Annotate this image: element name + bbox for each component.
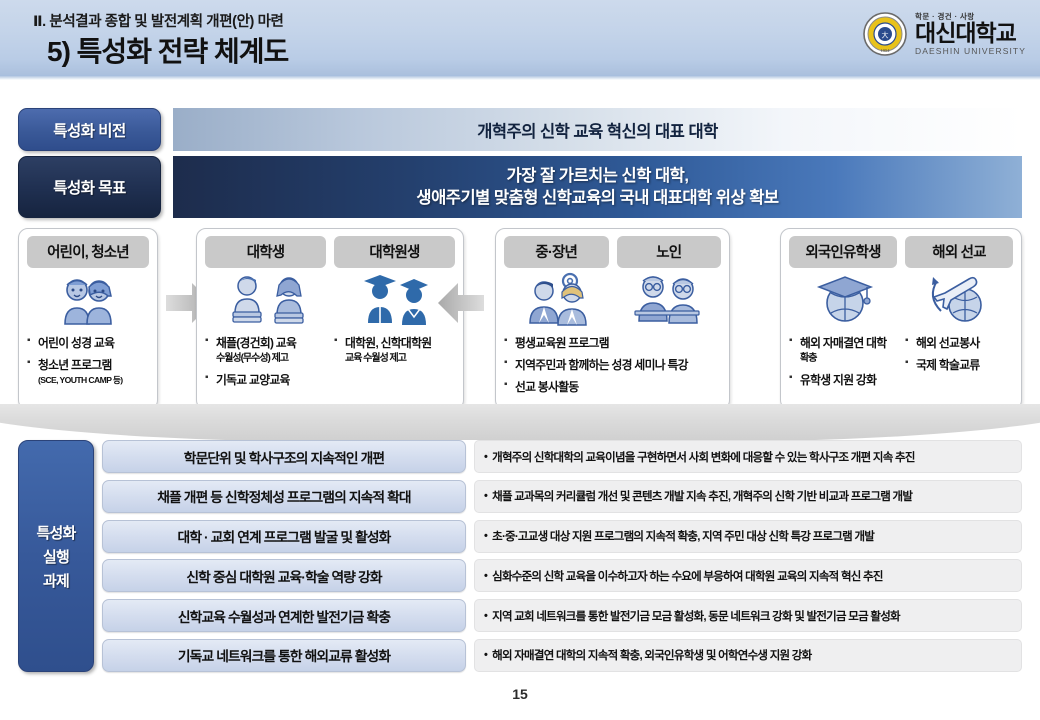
group-bullet-list: 해외 선교봉사 국제 학술교류 xyxy=(905,335,1013,374)
bullet-text: 지역주민과 함께하는 성경 세미나 특강 xyxy=(515,358,688,372)
group-header: 외국인유학생 xyxy=(789,236,897,268)
bullet-text: 유학생 지원 강화 xyxy=(800,373,876,387)
list-item: 해외 선교봉사 xyxy=(905,335,1013,352)
bullet-text: 해외 자매결연 대학 xyxy=(800,336,886,350)
group-icons xyxy=(205,271,455,333)
task-description: • 채플 교과목의 커리큘럼 개선 및 콘텐츠 개발 지속 추진, 개혁주의 신… xyxy=(474,480,1022,513)
list-item: 채플(경건회) 교육수월성(무수성) 제고 xyxy=(205,335,326,367)
group-header-row: 어린이, 청소년 xyxy=(27,236,149,268)
university-logo: 大 1954 학문 · 경건 · 사랑 대신대학교 DAESHIN UNIVER… xyxy=(862,8,1026,60)
list-item: 유학생 지원 강화 xyxy=(789,372,897,389)
task-description-text: 채플 교과목의 커리큘럼 개선 및 콘텐츠 개발 지속 추진, 개혁주의 신학 … xyxy=(492,488,912,504)
group-column: 평생교육원 프로그램 지역주민과 함께하는 성경 세미나 특강 선교 봉사활동 xyxy=(504,335,721,403)
group-icons xyxy=(789,271,1013,333)
task-description: • 지역 교회 네트워크를 통한 발전기금 모금 활성화, 동문 네트워크 강화… xyxy=(474,599,1022,632)
graduate-students-icon xyxy=(356,271,436,334)
bullet-subtext: 교육 수월성 제고 xyxy=(345,352,455,367)
group-card-children: 어린이, 청소년 xyxy=(18,228,158,410)
group-bullet-list: 해외 자매결연 대학확충 유학생 지원 강화 xyxy=(789,335,897,389)
list-item: 평생교육원 프로그램 xyxy=(504,335,721,352)
goal-badge: 특성화 목표 xyxy=(18,156,161,218)
list-item: 선교 봉사활동 xyxy=(504,379,721,396)
group-body: 채플(경건회) 교육수월성(무수성) 제고 기독교 교양교육 대학원, 신학대학… xyxy=(205,335,455,403)
group-bullet-list: 채플(경건회) 교육수월성(무수성) 제고 기독교 교양교육 xyxy=(205,335,326,389)
bullet-text: 국제 학술교류 xyxy=(916,358,980,372)
task-description: • 심화수준의 신학 교육을 이수하고자 하는 수요에 부응하여 대학원 교육의… xyxy=(474,559,1022,592)
group-card-international: 외국인유학생 해외 선교 xyxy=(780,228,1022,410)
children-icon xyxy=(56,272,120,333)
svg-text:大: 大 xyxy=(882,31,889,40)
tasks-side-label: 특성화 실행 과제 xyxy=(18,440,94,672)
table-row: 신학 중심 대학원 교육·학술 역량 강화 • 심화수준의 신학 교육을 이수하… xyxy=(102,559,1022,592)
group-bullet-list: 대학원, 신학대학원교육 수월성 제고 xyxy=(334,335,455,367)
bullet-dot-icon: • xyxy=(484,649,487,661)
middle-aged-icon xyxy=(518,271,598,334)
list-item: 어린이 성경 교육 xyxy=(27,335,149,352)
list-item: 해외 자매결연 대학확충 xyxy=(789,335,897,367)
task-description-text: 심화수준의 신학 교육을 이수하고자 하는 수요에 부응하여 대학원 교육의 지… xyxy=(492,568,883,584)
group-column: 해외 선교봉사 국제 학술교류 xyxy=(905,335,1013,403)
elderly-icon xyxy=(627,271,707,334)
tasks-label-line: 과제 xyxy=(43,570,69,591)
bullet-dot-icon: • xyxy=(484,530,487,542)
goal-statement: 가장 잘 가르치는 신학 대학, 생애주기별 맞춤형 신학교육의 국내 대표대학… xyxy=(173,156,1022,218)
list-item: 기독교 교양교육 xyxy=(205,372,326,389)
vision-badge: 특성화 비전 xyxy=(18,108,161,151)
logo-name-en: DAESHIN UNIVERSITY xyxy=(915,47,1026,56)
university-seal-icon: 大 1954 xyxy=(862,11,908,57)
logo-tagline: 학문 · 경건 · 사랑 xyxy=(915,13,975,21)
group-card-students: 대학생 대학원생 xyxy=(196,228,464,410)
target-groups: 어린이, 청소년 xyxy=(18,228,1022,410)
table-row: 기독교 네트워크를 통한 해외교류 활성화 • 해외 자매결연 대학의 지속적 … xyxy=(102,639,1022,672)
group-card-adults: 중·장년 노인 xyxy=(495,228,730,410)
goal-line-2: 생애주기별 맞춤형 신학교육의 국내 대표대학 위상 확보 xyxy=(416,187,778,209)
group-column: 대학원, 신학대학원교육 수월성 제고 xyxy=(334,335,455,403)
task-name: 기독교 네트워크를 통한 해외교류 활성화 xyxy=(102,639,466,672)
group-header: 해외 선교 xyxy=(905,236,1013,268)
task-description: • 개혁주의 신학대학의 교육이념을 구현하면서 사회 변화에 대응할 수 있는… xyxy=(474,440,1022,473)
page-number: 15 xyxy=(0,686,1040,702)
tasks-table: 학문단위 및 학사구조의 지속적인 개편 • 개혁주의 신학대학의 교육이념을 … xyxy=(102,440,1022,672)
group-body: 평생교육원 프로그램 지역주민과 함께하는 성경 세미나 특강 선교 봉사활동 xyxy=(504,335,721,403)
task-description: • 해외 자매결연 대학의 지속적 확충, 외국인유학생 및 어학연수생 지원 … xyxy=(474,639,1022,672)
group-body: 어린이 성경 교육 청소년 프로그램(SCE, YOUTH CAMP 등) xyxy=(27,335,149,403)
bullet-subtext: (SCE, YOUTH CAMP 등) xyxy=(38,374,149,386)
group-column: 해외 자매결연 대학확충 유학생 지원 강화 xyxy=(789,335,897,403)
group-icons xyxy=(504,271,721,333)
table-row: 신학교육 수월성과 연계한 발전기금 확충 • 지역 교회 네트워크를 통한 발… xyxy=(102,599,1022,632)
implementation-tasks: 특성화 실행 과제 학문단위 및 학사구조의 지속적인 개편 • 개혁주의 신학… xyxy=(18,440,1022,672)
page-title: 5) 특성화 전략 체계도 xyxy=(47,30,288,70)
table-row: 학문단위 및 학사구조의 지속적인 개편 • 개혁주의 신학대학의 교육이념을 … xyxy=(102,440,1022,473)
group-header: 중·장년 xyxy=(504,236,609,268)
group-header: 대학생 xyxy=(205,236,326,268)
bullet-subtext: 수월성(무수성) 제고 xyxy=(216,352,326,367)
bullet-text: 기독교 교양교육 xyxy=(216,373,290,387)
group-column: 채플(경건회) 교육수월성(무수성) 제고 기독교 교양교육 xyxy=(205,335,326,403)
goal-line-1: 가장 잘 가르치는 신학 대학, xyxy=(416,165,778,187)
task-description-text: 개혁주의 신학대학의 교육이념을 구현하면서 사회 변화에 대응할 수 있는 학… xyxy=(492,449,915,465)
group-column: 어린이 성경 교육 청소년 프로그램(SCE, YOUTH CAMP 등) xyxy=(27,335,149,403)
bullet-text: 해외 선교봉사 xyxy=(916,336,980,350)
bullet-dot-icon: • xyxy=(484,451,487,463)
group-bullet-list: 평생교육원 프로그램 지역주민과 함께하는 성경 세미나 특강 선교 봉사활동 xyxy=(504,335,721,396)
group-header: 노인 xyxy=(617,236,722,268)
globe-graduation-icon xyxy=(807,271,883,334)
group-header-row: 대학생 대학원생 xyxy=(205,236,455,268)
task-description-text: 초·중·고교생 대상 지원 프로그램의 지속적 확충, 지역 주민 대상 신학 … xyxy=(492,528,874,544)
bullet-dot-icon: • xyxy=(484,610,487,622)
section-divider xyxy=(0,404,1040,440)
task-name: 신학 중심 대학원 교육·학술 역량 강화 xyxy=(102,559,466,592)
airplane-globe-icon xyxy=(919,271,995,334)
vision-statement: 개혁주의 신학 교육 혁신의 대표 대학 xyxy=(173,108,1022,151)
bullet-dot-icon: • xyxy=(484,570,487,582)
table-row: 채플 개편 등 신학정체성 프로그램의 지속적 확대 • 채플 교과목의 커리큘… xyxy=(102,480,1022,513)
task-name: 신학교육 수월성과 연계한 발전기금 확충 xyxy=(102,599,466,632)
section-kicker: Ⅱ. 분석결과 종합 및 발전계획 개편(안) 마련 xyxy=(33,10,283,31)
task-name: 학문단위 및 학사구조의 지속적인 개편 xyxy=(102,440,466,473)
university-students-icon xyxy=(225,271,317,334)
list-item: 국제 학술교류 xyxy=(905,357,1013,374)
list-item: 지역주민과 함께하는 성경 세미나 특강 xyxy=(504,357,721,374)
bullet-text: 청소년 프로그램 xyxy=(38,358,112,372)
slide-root: Ⅱ. 분석결과 종합 및 발전계획 개편(안) 마련 5) 특성화 전략 체계도… xyxy=(0,0,1040,720)
vision-row: 특성화 비전 개혁주의 신학 교육 혁신의 대표 대학 xyxy=(18,108,1022,151)
task-name: 대학 · 교회 연계 프로그램 발굴 및 활성화 xyxy=(102,520,466,553)
tasks-label-line: 실행 xyxy=(43,546,69,567)
list-item: 대학원, 신학대학원교육 수월성 제고 xyxy=(334,335,455,367)
bullet-text: 대학원, 신학대학원 xyxy=(345,336,431,350)
group-header-row: 중·장년 노인 xyxy=(504,236,721,268)
bullet-subtext: 확충 xyxy=(800,352,897,367)
group-body: 해외 자매결연 대학확충 유학생 지원 강화 해외 선교봉사 국제 학술교류 xyxy=(789,335,1013,403)
goal-row: 특성화 목표 가장 잘 가르치는 신학 대학, 생애주기별 맞춤형 신학교육의 … xyxy=(18,156,1022,218)
group-icons xyxy=(27,271,149,333)
group-header: 어린이, 청소년 xyxy=(27,236,149,268)
bullet-text: 어린이 성경 교육 xyxy=(38,336,114,350)
table-row: 대학 · 교회 연계 프로그램 발굴 및 활성화 • 초·중·고교생 대상 지원… xyxy=(102,520,1022,553)
group-header-row: 외국인유학생 해외 선교 xyxy=(789,236,1013,268)
tasks-label-line: 특성화 xyxy=(36,522,75,543)
group-bullet-list: 어린이 성경 교육 청소년 프로그램(SCE, YOUTH CAMP 등) xyxy=(27,335,149,387)
task-description: • 초·중·고교생 대상 지원 프로그램의 지속적 확충, 지역 주민 대상 신… xyxy=(474,520,1022,553)
svg-text:1954: 1954 xyxy=(881,48,891,53)
bullet-text: 평생교육원 프로그램 xyxy=(515,336,609,350)
logo-name-ko: 대신대학교 xyxy=(915,22,1016,45)
task-description-text: 지역 교회 네트워크를 통한 발전기금 모금 활성화, 동문 네트워크 강화 및… xyxy=(492,608,900,624)
arrow-left-icon xyxy=(436,280,486,326)
list-item: 청소년 프로그램(SCE, YOUTH CAMP 등) xyxy=(27,357,149,387)
task-name: 채플 개편 등 신학정체성 프로그램의 지속적 확대 xyxy=(102,480,466,513)
bullet-text: 선교 봉사활동 xyxy=(515,380,579,394)
bullet-dot-icon: • xyxy=(484,490,487,502)
task-description-text: 해외 자매결연 대학의 지속적 확충, 외국인유학생 및 어학연수생 지원 강화 xyxy=(492,647,811,663)
group-header: 대학원생 xyxy=(334,236,455,268)
logo-wordmark: 학문 · 경건 · 사랑 대신대학교 DAESHIN UNIVERSITY xyxy=(915,13,1026,56)
bullet-text: 채플(경건회) 교육 xyxy=(216,336,296,350)
